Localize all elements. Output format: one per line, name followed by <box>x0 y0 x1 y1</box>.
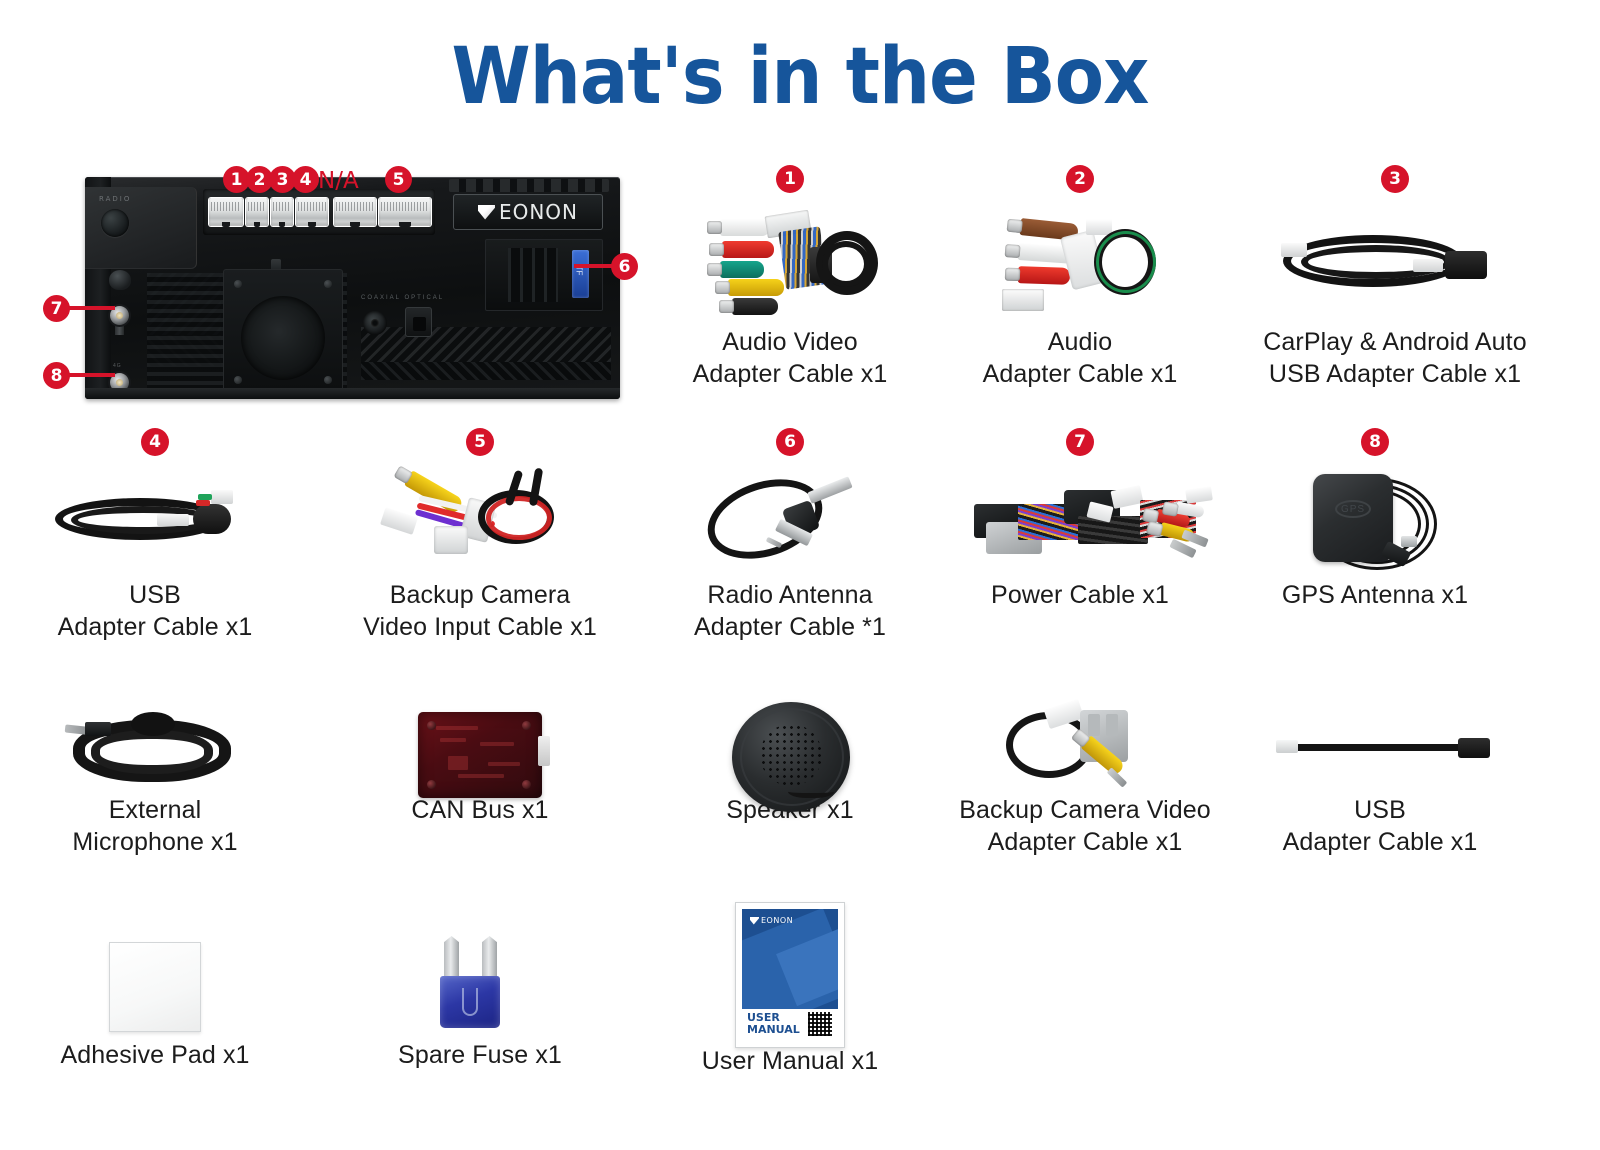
callout-lead-7 <box>67 306 115 310</box>
audio-adapter-cable-art <box>960 197 1200 327</box>
qr-code-icon <box>807 1011 833 1037</box>
accessory-cell-7: 7 Power Cable x1 <box>960 428 1200 612</box>
accessory-cell-4: 4 USB Adapter Cable x1 <box>35 428 275 643</box>
white-plug <box>1281 243 1307 257</box>
caption-line: Adapter Cable x1 <box>35 612 275 644</box>
accessory-caption-14: Adhesive Pad x1 <box>35 1040 275 1072</box>
accessory-cell-11: Speaker x1 <box>670 700 910 827</box>
user-manual-art: EONON USER MANUAL <box>670 930 910 1040</box>
port-na-label: N/A <box>318 168 359 194</box>
accessory-cell-1: 1 Audio Video Adapter Cable x1 <box>670 165 910 390</box>
adhesive-pad-art <box>35 930 275 1040</box>
can-bus-connector <box>538 736 550 766</box>
caption-line: External <box>35 795 275 827</box>
caption-line: CarPlay & Android Auto <box>1245 327 1545 359</box>
accessory-caption-16: User Manual x1 <box>670 1046 910 1078</box>
whats-in-the-box-page: What's in the Box 1 2 3 4 N/A 5 6 7 8 RA… <box>0 0 1600 1150</box>
callout-lead-6 <box>574 264 614 268</box>
caption-line: Backup Camera <box>360 580 600 612</box>
caption-line: Backup Camera Video <box>940 795 1230 827</box>
caption-line: Adapter Cable x1 <box>940 827 1230 859</box>
mic-cable-bundle-inner <box>91 730 213 774</box>
speaker-cable <box>788 782 834 798</box>
can-screw-tr <box>522 721 531 730</box>
pcb-trace <box>436 726 478 730</box>
cable-tag <box>157 514 189 526</box>
callout-lead-8 <box>67 373 115 377</box>
accessory-caption-2: Audio Adapter Cable x1 <box>960 327 1200 390</box>
rca-black <box>732 298 778 315</box>
caption-line: CAN Bus x1 <box>360 795 600 827</box>
caption-line: Spare Fuse x1 <box>360 1040 600 1072</box>
caption-line: Adapter Cable x1 <box>1260 827 1500 859</box>
audio-video-adapter-cable-art <box>670 197 910 327</box>
caption-line: Adapter Cable *1 <box>670 612 910 644</box>
accessory-caption-13: USB Adapter Cable x1 <box>1260 795 1500 858</box>
accessory-cell-6: 6 Radio Antenna Adapter Cable *1 <box>670 428 910 643</box>
accessory-badge-4: 4 <box>141 428 169 456</box>
caption-line: Microphone x1 <box>35 827 275 859</box>
callout-port-5: 5 <box>385 166 412 193</box>
accessory-badge-8: 8 <box>1361 428 1389 456</box>
white-connector-block-2 <box>434 526 468 554</box>
accessory-badge-3: 3 <box>1381 165 1409 193</box>
pcb-trace <box>488 762 520 766</box>
accessory-badge-1: 1 <box>776 165 804 193</box>
external-microphone-art <box>35 700 275 795</box>
gps-emboss-label: GPS <box>1335 500 1371 518</box>
caption-line: USB <box>35 580 275 612</box>
pcb-trace <box>458 774 504 778</box>
fuse-body <box>440 976 500 1028</box>
accessory-cell-2: 2 Audio Adapter Cable x1 <box>960 165 1200 390</box>
accessory-badge-2: 2 <box>1066 165 1094 193</box>
wire-bundle-mid <box>1078 516 1148 544</box>
fuse-element <box>462 988 478 1016</box>
power-cable-art <box>960 460 1200 580</box>
accessory-cell-13: USB Adapter Cable x1 <box>1260 700 1500 858</box>
white-connector <box>1086 219 1112 235</box>
gray-connector-rib-1 <box>1088 714 1100 736</box>
green-wire <box>1096 231 1156 293</box>
callout-side-6: 6 <box>611 253 638 280</box>
pcb-trace <box>448 756 468 770</box>
caption-line: Video Input Cable x1 <box>360 612 600 644</box>
accessory-caption-10: CAN Bus x1 <box>360 795 600 827</box>
accessory-cell-9: External Microphone x1 <box>35 700 275 858</box>
spare-fuse-art <box>360 930 600 1040</box>
user-manual-booklet: EONON USER MANUAL <box>735 902 845 1048</box>
rca-yellow <box>728 279 784 296</box>
radio-antenna-adapter-cable-art <box>670 460 910 580</box>
white-plug <box>211 490 233 504</box>
caption-line: Adapter Cable x1 <box>960 359 1200 391</box>
caption-line: Adhesive Pad x1 <box>35 1040 275 1072</box>
accessory-caption-3: CarPlay & Android Auto USB Adapter Cable… <box>1245 327 1545 390</box>
accessory-caption-4: USB Adapter Cable x1 <box>35 580 275 643</box>
accessory-cell-14: Adhesive Pad x1 <box>35 930 275 1072</box>
backup-camera-video-input-cable-art <box>360 460 600 580</box>
manual-cover-graphic: EONON <box>742 909 838 1009</box>
accessory-cell-12: Backup Camera Video Adapter Cable x1 <box>940 700 1230 858</box>
can-bus-art <box>360 700 600 795</box>
mic-capsule <box>131 712 175 736</box>
accessory-caption-6: Radio Antenna Adapter Cable *1 <box>670 580 910 643</box>
gray-connector-rib-2 <box>1106 714 1118 736</box>
carplay-usb-adapter-cable-art <box>1245 197 1545 327</box>
accessory-badge-7: 7 <box>1066 428 1094 456</box>
accessory-cell-5: 5 Backup Camera Video Input Cable x1 <box>360 428 600 643</box>
carplay-label-tag <box>1413 259 1443 272</box>
rca-red <box>722 241 774 258</box>
accessory-caption-7: Power Cable x1 <box>960 580 1200 612</box>
gps-receiver-body: GPS <box>1313 474 1393 562</box>
eonon-logo-icon <box>750 917 759 925</box>
accessory-caption-8: GPS Antenna x1 <box>1255 580 1495 612</box>
white-plug-a <box>380 507 418 535</box>
can-screw-tl <box>427 721 436 730</box>
red-wire <box>196 500 210 506</box>
callout-side-7: 7 <box>43 295 70 322</box>
accessory-caption-9: External Microphone x1 <box>35 795 275 858</box>
caption-line: Audio Video <box>670 327 910 359</box>
mic-jack-body <box>85 722 111 736</box>
adhesive-pad-square <box>109 942 201 1032</box>
accessory-cell-8: 8 GPS GPS Antenna x1 <box>1255 428 1495 612</box>
accessory-caption-1: Audio Video Adapter Cable x1 <box>670 327 910 390</box>
caption-line: GPS Antenna x1 <box>1255 580 1495 612</box>
label-tag-1 <box>1110 485 1143 509</box>
can-screw-br <box>522 780 531 789</box>
rca-white <box>720 219 770 236</box>
caption-line: Audio <box>960 327 1200 359</box>
accessory-cell-10: CAN Bus x1 <box>360 700 600 827</box>
gps-sma-connector <box>1401 536 1417 547</box>
backup-camera-video-adapter-cable-art <box>940 700 1230 795</box>
fuse-prong-right <box>482 936 497 980</box>
white-plug <box>1002 289 1044 311</box>
callout-side-8: 8 <box>43 362 70 389</box>
caption-line: Radio Antenna <box>670 580 910 612</box>
accessory-caption-5: Backup Camera Video Input Cable x1 <box>360 580 600 643</box>
speaker-grille <box>760 724 822 786</box>
rca-green <box>720 261 764 278</box>
caption-line: Power Cable x1 <box>960 580 1200 612</box>
fuse-prong-left <box>444 936 459 980</box>
caption-line: USB <box>1260 795 1500 827</box>
can-bus-module <box>418 712 542 798</box>
gps-antenna-art: GPS <box>1255 460 1495 580</box>
manual-eonon-logo: EONON <box>750 916 793 925</box>
accessory-cell-16: EONON USER MANUAL User Manual x1 <box>670 930 910 1078</box>
can-screw-bl <box>427 780 436 789</box>
usb-adapter-cable-short-art <box>1260 700 1500 795</box>
manual-footer: USER MANUAL <box>742 1006 838 1042</box>
white-plug-end <box>1185 486 1213 503</box>
pcb-trace <box>480 742 514 746</box>
red-wire-loop <box>486 496 552 540</box>
usb-adapter-cable-art <box>35 460 275 580</box>
rca-red <box>1018 266 1071 285</box>
accessory-badge-6: 6 <box>776 428 804 456</box>
caption-line: Adapter Cable x1 <box>670 359 910 391</box>
pcb-trace <box>440 738 466 742</box>
speaker-art <box>670 700 910 795</box>
caption-line: USB Adapter Cable x1 <box>1245 359 1545 391</box>
callout-port-4: 4 <box>292 166 319 193</box>
white-plug-end <box>1276 740 1298 753</box>
accessory-caption-15: Spare Fuse x1 <box>360 1040 600 1072</box>
panel-mount-connector <box>193 504 231 534</box>
antenna-barrel-female <box>807 476 852 504</box>
manual-title: USER MANUAL <box>747 1012 800 1035</box>
usb-a-female-connector <box>1445 251 1487 279</box>
usb-a-female-connector <box>1458 738 1490 758</box>
accessory-cell-15: Spare Fuse x1 <box>360 930 600 1072</box>
accessory-caption-12: Backup Camera Video Adapter Cable x1 <box>940 795 1230 858</box>
usb-short-cable <box>1286 744 1466 751</box>
manual-title-line2: MANUAL <box>747 1024 800 1036</box>
accessory-badge-5: 5 <box>466 428 494 456</box>
caption-line: User Manual x1 <box>670 1046 910 1078</box>
manual-brand-text: EONON <box>761 916 793 925</box>
black-cable-coil-inner <box>822 241 870 287</box>
accessory-cell-3: 3 CarPlay & Android Auto USB Adapter Cab… <box>1245 165 1545 390</box>
